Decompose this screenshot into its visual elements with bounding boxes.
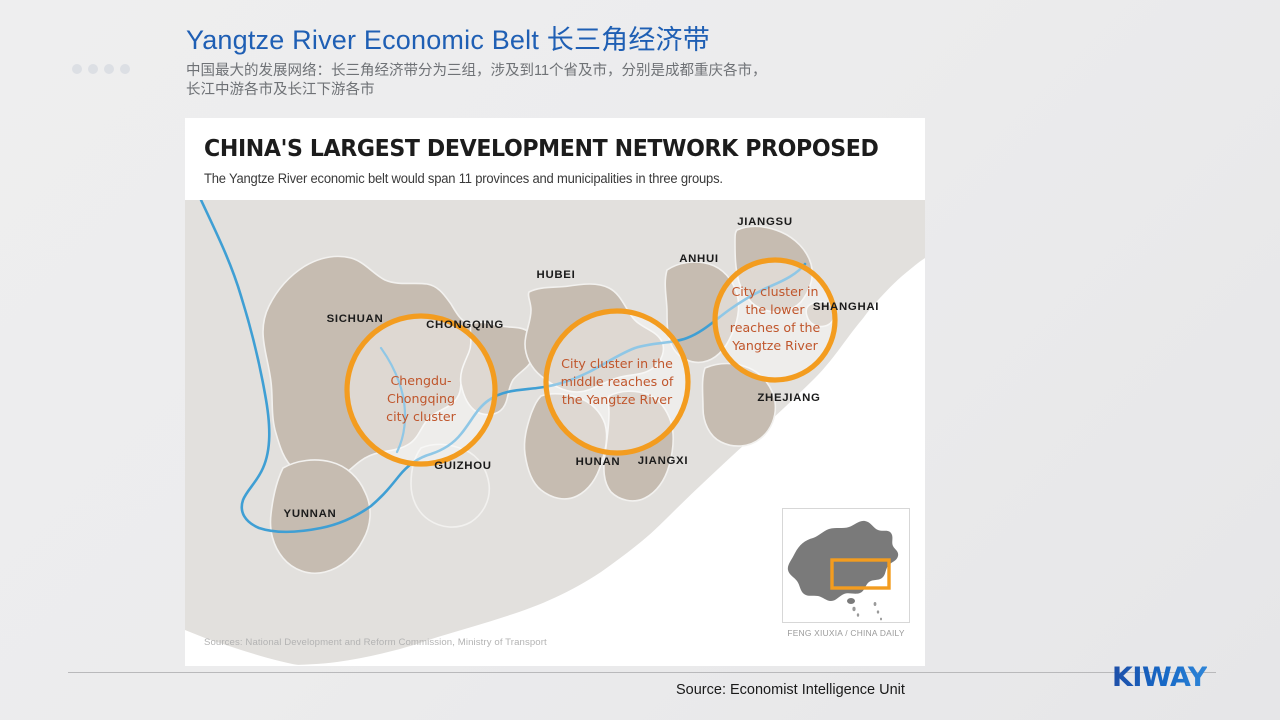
cluster-label-middle-reaches-line-1: City cluster in the (561, 356, 673, 371)
province-label-sichuan: SICHUAN (327, 313, 384, 325)
dot-2 (88, 64, 98, 74)
province-label-hubei: HUBEI (537, 269, 576, 281)
inset-frame (782, 508, 910, 623)
slide-header: Yangtze River Economic Belt 长三角经济带 中国最大的… (186, 24, 1086, 100)
cluster-label-middle-reaches-line-2: middle reaches of (561, 374, 674, 389)
cluster-label-lower-reaches-line-3: reaches of the (730, 320, 821, 335)
inset-island-3 (874, 602, 877, 606)
inset-island-5 (880, 618, 882, 621)
inset-island-4 (877, 610, 879, 613)
figure-headline: CHINA'S LARGEST DEVELOPMENT NETWORK PROP… (204, 134, 869, 162)
inset-credit: FENG XIUXIA / CHINA DAILY (782, 628, 910, 638)
cluster-label-lower-reaches-line-4: Yangtze River (731, 338, 818, 353)
cluster-label-lower-reaches-line-2: the lower (745, 302, 805, 317)
province-label-zhejiang: ZHEJIANG (757, 392, 820, 404)
cluster-label-chengdu-chongqing-line-2: Chongqing (387, 391, 455, 406)
kiway-logo: KIWAY (1112, 662, 1207, 693)
figure-sources: Sources: National Development and Reform… (204, 637, 547, 648)
dot-4 (120, 64, 130, 74)
province-label-jiangxi: JIANGXI (638, 455, 688, 467)
province-label-hunan: HUNAN (576, 456, 621, 468)
figure-standfirst: The Yangtze River economic belt would sp… (204, 171, 890, 186)
cluster-label-chengdu-chongqing-line-3: city cluster (386, 409, 456, 424)
province-label-guizhou: GUIZHOU (434, 460, 491, 472)
inset-island-1 (852, 607, 855, 611)
slide-root: Yangtze River Economic Belt 长三角经济带 中国最大的… (0, 0, 1280, 720)
page-title: Yangtze River Economic Belt 长三角经济带 (186, 24, 1086, 56)
decorative-dots (72, 64, 130, 74)
inset-map-svg (783, 509, 909, 622)
inset-locator-map: FENG XIUXIA / CHINA DAILY (782, 508, 912, 650)
figure-header: CHINA'S LARGEST DEVELOPMENT NETWORK PROP… (204, 134, 911, 186)
province-label-shanghai: SHANGHAI (813, 301, 879, 313)
page-subtitle: 中国最大的发展网络：长三角经济带分为三组，涉及到11个省及市，分别是成都重庆各市… (186, 62, 1046, 100)
figure-panel: CHINA'S LARGEST DEVELOPMENT NETWORK PROP… (185, 118, 925, 666)
province-label-anhui: ANHUI (679, 253, 719, 265)
inset-island-2 (857, 613, 859, 617)
cluster-circle-chengdu-chongqing (347, 316, 495, 464)
inset-hainan (847, 598, 855, 604)
province-label-yunnan: YUNNAN (284, 508, 337, 520)
cluster-label-middle-reaches-line-3: the Yangtze River (562, 392, 673, 407)
subtitle-line-1: 中国最大的发展网络：长三角经济带分为三组，涉及到11个省及市，分别是成都重庆各市… (186, 63, 767, 79)
footer-source-text: Source: Economist Intelligence Unit (676, 682, 905, 698)
province-label-jiangsu: JIANGSU (737, 216, 793, 228)
cluster-label-chengdu-chongqing-line-1: Chengdu- (390, 373, 451, 388)
dot-1 (72, 64, 82, 74)
cluster-label-lower-reaches-line-1: City cluster in (731, 284, 818, 299)
footer-divider (68, 672, 1216, 673)
dot-3 (104, 64, 114, 74)
subtitle-line-2: 长江中游各市及长江下游各市 (186, 82, 375, 98)
province-label-chongqing: CHONGQING (426, 319, 504, 331)
